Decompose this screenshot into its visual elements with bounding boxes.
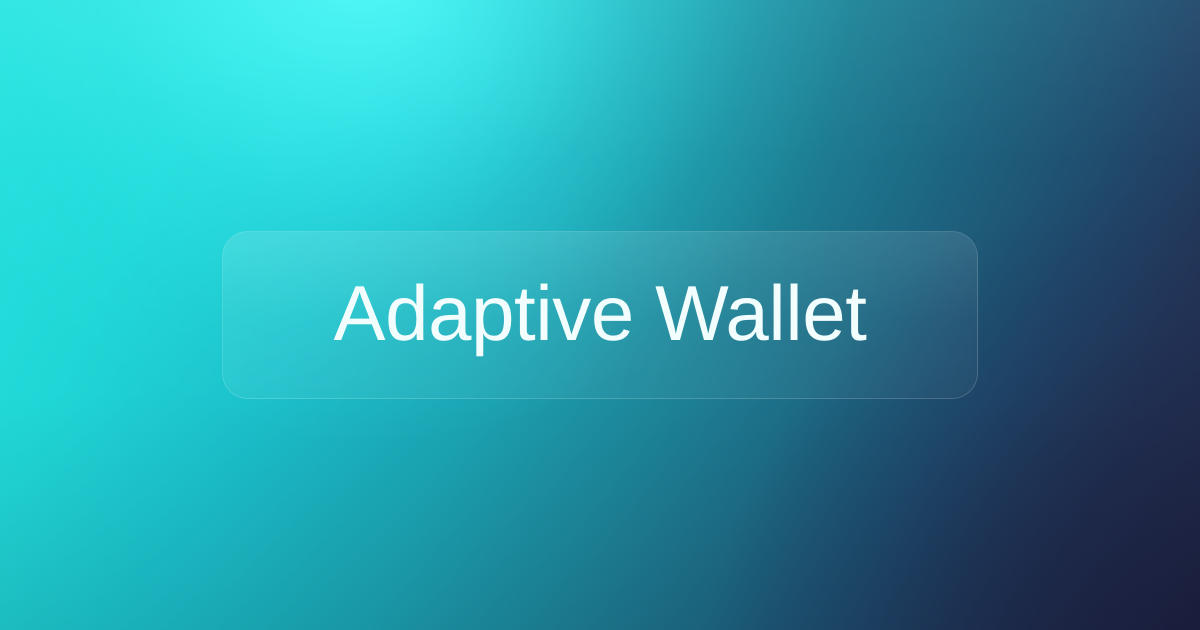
preview-canvas: Adaptive Wallet: [0, 0, 1200, 630]
page-title: Adaptive Wallet: [333, 274, 866, 356]
card-layer: Adaptive Wallet: [0, 0, 1200, 630]
title-card: Adaptive Wallet: [222, 231, 978, 399]
